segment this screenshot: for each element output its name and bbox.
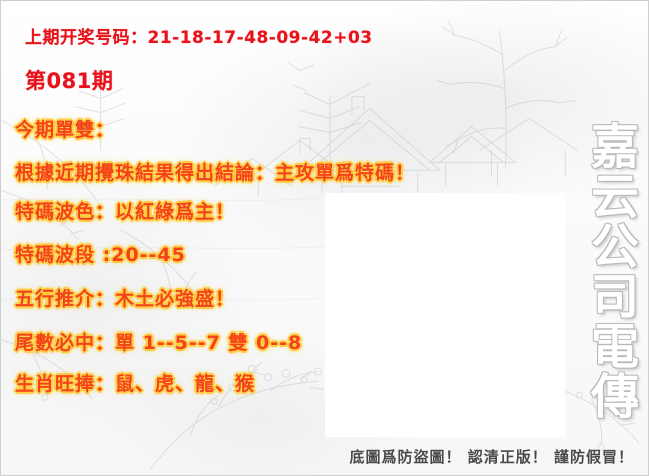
anti-counterfeit-notice: 底圖爲防盜圖！ 認清正版！ 謹防假冒！ <box>1 446 634 467</box>
tip-line-conclusion: 根據近期攪珠結果得出結論：主攻單爲特碼！ <box>15 158 415 185</box>
tip-line-tail-numbers: 尾數必中：單 1--5--7 雙 0--8 <box>15 328 302 355</box>
tip-line-zodiac: 生肖旺捧：鼠、虎、龍、猴 <box>15 369 255 396</box>
tip-line-five-elements: 五行推介：木土必強盛！ <box>15 284 235 311</box>
last-draw-numbers: 上期开奖号码：21-18-17-48-09-42+03 <box>25 23 373 48</box>
company-watermark: 嘉云公司電傳 <box>572 121 634 421</box>
tip-line-wave-range: 特碼波段 :20--45 <box>15 240 186 267</box>
tip-line-wave-color: 特碼波色：以紅綠爲主！ <box>15 197 235 224</box>
blank-content-panel <box>325 193 565 437</box>
lottery-tip-poster: 上期开奖号码：21-18-17-48-09-42+03 第081期 今期單雙： … <box>0 0 649 476</box>
issue-number: 第081期 <box>25 65 113 95</box>
tip-line-odd-even-title: 今期單雙： <box>15 115 115 142</box>
